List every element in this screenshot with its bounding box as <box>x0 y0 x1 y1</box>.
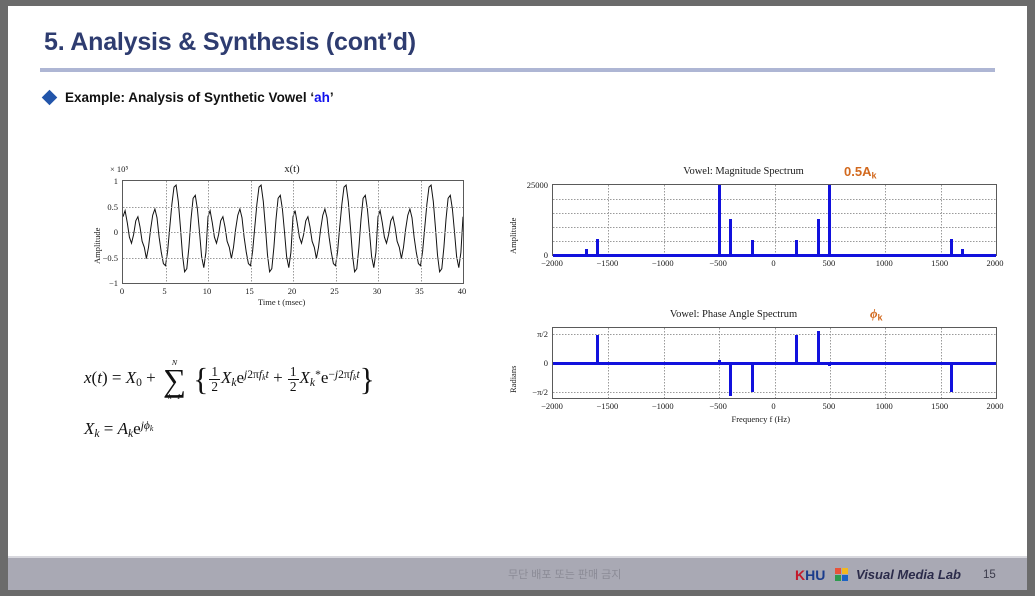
time-x-tick: 10 <box>203 286 212 296</box>
magnitude-x-tick: 2000 <box>987 258 1004 268</box>
bullet-highlight: ah <box>314 90 330 105</box>
magnitude-x-tick: 500 <box>823 258 836 268</box>
phase-y-tick: π/2 <box>506 329 548 339</box>
time-y-tick: −0.5 <box>90 253 118 263</box>
time-x-tick: 15 <box>245 286 254 296</box>
phase-plot-frame <box>552 327 997 399</box>
time-x-tick: 25 <box>330 286 339 296</box>
phase-y-tick: 0 <box>506 358 548 368</box>
time-x-tick: 40 <box>458 286 467 296</box>
page-number: 15 <box>983 569 996 581</box>
phase-stem <box>795 335 798 363</box>
time-grid-y <box>123 207 463 208</box>
khu-logo-h: H <box>805 567 815 583</box>
phase-x-tick: −1500 <box>596 401 618 411</box>
phase-x-tick: −1000 <box>652 401 674 411</box>
phase-chart-title: Vowel: Phase Angle Spectrum <box>670 309 797 320</box>
time-y-tick: 0 <box>90 227 118 237</box>
magnitude-chart-title: Vowel: Magnitude Spectrum <box>683 166 804 177</box>
magnitude-stem <box>596 239 599 255</box>
magnitude-x-tick: 1500 <box>931 258 948 268</box>
time-y-tick: 1 <box>90 176 118 186</box>
magnitude-grid-x <box>775 185 776 255</box>
bullet-prefix: Example: Analysis of Synthetic Vowel ‘ <box>65 90 314 105</box>
magnitude-grid-y <box>553 241 996 242</box>
magnitude-grid-x <box>664 185 665 255</box>
khu-logo-k: K <box>795 567 805 583</box>
phase-grid-y <box>553 334 996 335</box>
magnitude-stem <box>751 240 754 255</box>
diamond-bullet-icon <box>42 90 58 106</box>
four-color-square-icon <box>835 568 848 581</box>
bullet-text: Example: Analysis of Synthetic Vowel ‘ah… <box>65 90 334 105</box>
khu-logo: KHU <box>795 567 825 583</box>
magnitude-grid-y <box>553 199 996 200</box>
lab-name: Visual Media Lab <box>856 567 961 582</box>
time-waveform-figure: × 10⁵ x(t) Amplitude Time t (msec) 05101… <box>90 164 470 309</box>
page-title: 5. Analysis & Synthesis (cont’d) <box>44 28 416 57</box>
phase-baseline <box>553 362 996 365</box>
time-x-tick: 35 <box>415 286 424 296</box>
summation-symbol: N ∑ k=1 <box>163 359 186 401</box>
magnitude-x-tick: 1000 <box>876 258 893 268</box>
phase-stem <box>596 335 599 363</box>
phase-stem <box>828 363 831 366</box>
time-x-tick: 0 <box>120 286 124 296</box>
phase-x-tick: 0 <box>771 401 775 411</box>
time-chart-title: x(t) <box>284 164 299 175</box>
footer-notice: 무단 배포 또는 판매 금지 <box>508 566 621 582</box>
time-x-tick: 30 <box>373 286 382 296</box>
magnitude-y-tick: 0 <box>506 250 548 260</box>
magnitude-y-tick: 25000 <box>506 180 548 190</box>
phase-stem <box>751 363 754 392</box>
magnitude-baseline <box>553 254 996 257</box>
magnitude-x-tick: −1500 <box>596 258 618 268</box>
phase-x-tick: −2000 <box>541 401 563 411</box>
magnitude-annotation: 0.5Ak <box>844 164 876 180</box>
magnitude-plot-frame <box>552 184 997 256</box>
phase-x-tick: −500 <box>709 401 727 411</box>
magnitude-grid-x <box>608 185 609 255</box>
magnitude-x-tick: −1000 <box>652 258 674 268</box>
phase-stem <box>817 331 820 363</box>
magnitude-stem <box>585 249 588 255</box>
phase-stem <box>950 363 953 392</box>
time-grid-y <box>123 232 463 233</box>
time-x-tick: 5 <box>162 286 166 296</box>
magnitude-stem <box>729 219 732 255</box>
magnitude-stem <box>817 219 820 255</box>
phase-spectrum-figure: Vowel: Phase Angle Spectrum ϕk Radians F… <box>506 309 1006 449</box>
bullet-suffix: ’ <box>330 90 334 105</box>
magnitude-stem <box>828 185 831 255</box>
khu-logo-u: U <box>815 567 825 583</box>
equation-phasor: Xk = Akejϕk <box>84 419 153 440</box>
time-x-axis-label: Time t (msec) <box>258 297 305 307</box>
phase-y-tick: −π/2 <box>506 387 548 397</box>
phase-x-tick: 1000 <box>876 401 893 411</box>
magnitude-stem <box>718 185 721 255</box>
magnitude-grid-y <box>553 227 996 228</box>
time-exponent-label: × 10⁵ <box>110 164 128 174</box>
magnitude-y-axis-label: Amplitude <box>508 218 518 254</box>
magnitude-x-tick: −500 <box>709 258 727 268</box>
magnitude-grid-y <box>553 213 996 214</box>
magnitude-stem <box>961 249 964 255</box>
phase-grid-y <box>553 392 996 393</box>
magnitude-x-tick: 0 <box>771 258 775 268</box>
phase-annotation: ϕk <box>870 306 883 322</box>
time-plot-frame <box>122 180 464 284</box>
slide: 5. Analysis & Synthesis (cont’d) Example… <box>8 6 1027 590</box>
magnitude-spectrum-figure: Vowel: Magnitude Spectrum 0.5Ak Amplitud… <box>506 166 1006 284</box>
magnitude-stem <box>795 240 798 255</box>
phase-x-tick: 500 <box>823 401 836 411</box>
magnitude-grid-x <box>885 185 886 255</box>
phase-x-tick: 1500 <box>931 401 948 411</box>
time-x-tick: 20 <box>288 286 297 296</box>
phase-x-tick: 2000 <box>987 401 1004 411</box>
bullet-row: Example: Analysis of Synthetic Vowel ‘ah… <box>44 90 334 105</box>
phase-x-axis-label: Frequency f (Hz) <box>732 414 791 424</box>
title-divider <box>40 68 995 72</box>
magnitude-stem <box>950 239 953 255</box>
time-grid-y <box>123 258 463 259</box>
time-y-tick: −1 <box>90 278 118 288</box>
phase-stem <box>718 360 721 363</box>
phase-stem <box>729 363 732 396</box>
time-y-tick: 0.5 <box>90 202 118 212</box>
magnitude-grid-x <box>941 185 942 255</box>
equation-synthesis: x(t) = X0 + N ∑ k=1 {12Xkej2πfkt + 12Xk*… <box>84 358 375 400</box>
